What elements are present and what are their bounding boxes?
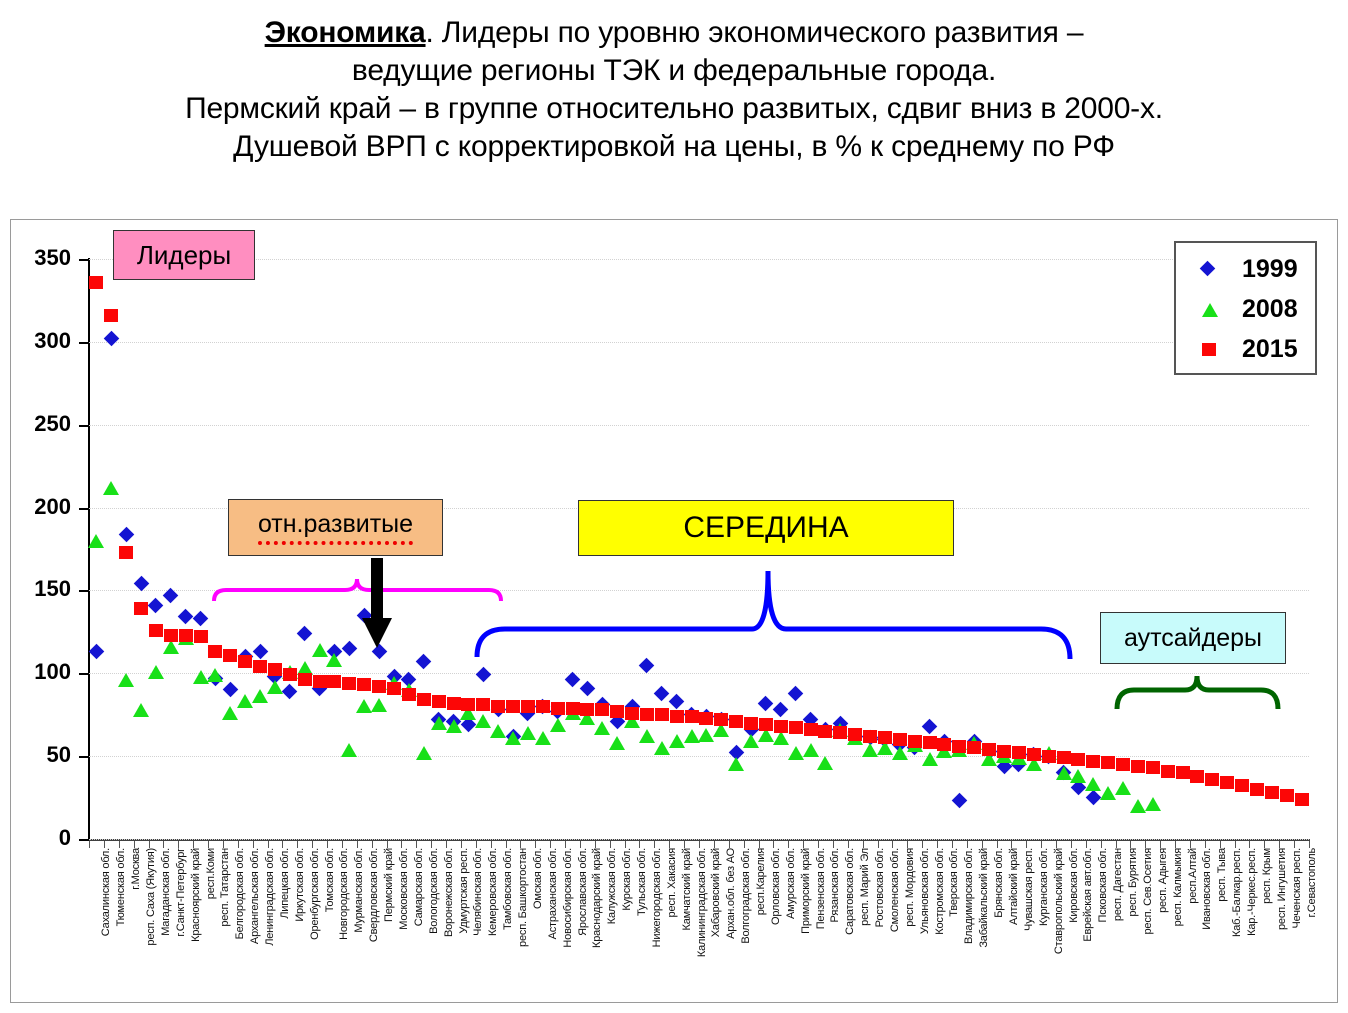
y-axis-tick-label: 350 — [11, 245, 71, 271]
y-tick-mark — [79, 259, 89, 261]
x-axis-tick-label: Свердловская обл. — [368, 848, 380, 942]
x-axis-tick-label: Тверская обл. — [948, 848, 960, 917]
x-axis-tick-label: Чеченская респ. — [1291, 848, 1303, 928]
x-tick-mark — [327, 841, 328, 848]
data-point-1999 — [193, 611, 209, 627]
data-point-2008 — [341, 743, 357, 757]
x-axis-tick-label: Красноярский край — [190, 848, 202, 942]
x-axis-tick-label: Каб.-Балкар.респ. — [1231, 848, 1243, 937]
x-tick-mark — [1071, 841, 1072, 848]
data-point-1999 — [565, 672, 581, 688]
x-tick-mark — [744, 841, 745, 848]
x-axis-tick-label: Рязанская обл. — [829, 848, 841, 922]
data-point-1999 — [342, 641, 358, 657]
annotation-middle: СЕРЕДИНА — [578, 500, 954, 556]
legend-item-2008: 2008 — [1176, 291, 1315, 331]
data-point-2015 — [179, 629, 193, 642]
y-axis-tick-label: 100 — [11, 659, 71, 685]
x-axis-labels: Сахалинская обл.Тюменская обл.г.Москваре… — [89, 848, 1311, 998]
x-tick-mark — [625, 841, 626, 848]
data-point-2015 — [476, 698, 490, 711]
data-point-2015 — [268, 663, 282, 676]
x-tick-mark — [476, 841, 477, 848]
data-point-2008 — [922, 752, 938, 766]
data-point-2008 — [356, 699, 372, 713]
x-axis-tick-label: Смоленская обл. — [889, 848, 901, 932]
data-point-2015 — [1280, 789, 1294, 802]
data-point-1999 — [118, 526, 134, 542]
x-tick-mark — [1026, 841, 1027, 848]
annotation-relative-developed-label: отн.развитые — [258, 510, 413, 545]
data-point-2008 — [550, 718, 566, 732]
data-point-2008 — [520, 726, 536, 740]
x-axis-tick-label: респ. Хакасия — [666, 848, 678, 917]
x-axis-tick-label: Челябинская обл. — [472, 848, 484, 936]
data-point-2015 — [863, 730, 877, 743]
data-point-2015 — [699, 712, 713, 725]
data-point-2015 — [729, 715, 743, 728]
x-tick-mark — [714, 841, 715, 848]
data-point-2008 — [431, 716, 447, 730]
x-axis-tick-label: респ. Крым — [1261, 848, 1273, 904]
x-axis-tick-label: Ивановская обл. — [1201, 848, 1213, 930]
data-point-1999 — [654, 685, 670, 701]
data-point-2015 — [327, 675, 341, 688]
x-axis-tick-label: респ. Адыгея — [1157, 848, 1169, 913]
data-point-2015 — [208, 645, 222, 658]
x-tick-mark — [1041, 841, 1042, 848]
x-tick-mark — [520, 841, 521, 848]
x-tick-mark — [669, 841, 670, 848]
x-tick-mark — [253, 841, 254, 848]
data-point-2008 — [698, 728, 714, 742]
data-point-2015 — [789, 721, 803, 734]
x-tick-mark — [1279, 841, 1280, 848]
x-tick-mark — [163, 841, 164, 848]
x-tick-mark — [223, 841, 224, 848]
x-axis-tick-label: респ. Бурятия — [1127, 848, 1139, 917]
x-axis-tick-label: Белгородская обл. — [234, 848, 246, 939]
data-point-2015 — [744, 717, 758, 730]
data-point-2008 — [103, 481, 119, 495]
x-axis-tick-label: Московская обл. — [398, 848, 410, 930]
data-point-2015 — [119, 546, 133, 559]
x-tick-mark — [1086, 841, 1087, 848]
y-axis-tick-label: 250 — [11, 411, 71, 437]
x-axis-tick-label: респ. Саха (Якутия) — [145, 848, 157, 946]
data-point-2015 — [149, 624, 163, 637]
data-point-2015 — [1027, 748, 1041, 761]
data-point-1999 — [133, 576, 149, 592]
data-point-2015 — [1071, 753, 1085, 766]
data-point-2015 — [848, 728, 862, 741]
data-point-2015 — [551, 702, 565, 715]
x-tick-mark — [268, 841, 269, 848]
x-axis-tick-label: Хабаровский край — [710, 848, 722, 937]
x-tick-mark — [119, 841, 120, 848]
x-tick-mark — [565, 841, 566, 848]
annotation-leaders-label: Лидеры — [137, 240, 231, 271]
data-point-2008 — [193, 670, 209, 684]
data-point-2008 — [237, 694, 253, 708]
y-axis-tick-label: 150 — [11, 576, 71, 602]
data-point-2015 — [878, 731, 892, 744]
x-tick-mark — [610, 841, 611, 848]
data-point-2015 — [461, 698, 475, 711]
x-tick-mark — [937, 841, 938, 848]
data-point-2015 — [1086, 755, 1100, 768]
x-tick-mark — [342, 841, 343, 848]
x-tick-mark — [312, 841, 313, 848]
chart-legend: 1999 2008 2015 — [1174, 241, 1317, 375]
data-point-2015 — [997, 745, 1011, 758]
data-point-2008 — [1056, 766, 1072, 780]
data-point-2015 — [595, 703, 609, 716]
data-point-2015 — [521, 700, 535, 713]
y-axis-tick-label: 0 — [11, 825, 71, 851]
x-tick-mark — [803, 841, 804, 848]
x-tick-mark — [461, 841, 462, 848]
data-point-2008 — [371, 698, 387, 712]
data-point-2015 — [759, 718, 773, 731]
data-point-2015 — [298, 673, 312, 686]
data-point-2015 — [1205, 773, 1219, 786]
x-axis-tick-label: респ.Коми — [205, 848, 217, 899]
data-point-2015 — [818, 725, 832, 738]
annotation-middle-label: СЕРЕДИНА — [683, 511, 848, 545]
x-tick-mark — [1175, 841, 1176, 848]
data-point-2008 — [654, 741, 670, 755]
x-axis-tick-label: Магаданская обл. — [160, 848, 172, 936]
data-point-2008 — [326, 653, 342, 667]
data-point-1999 — [669, 694, 685, 710]
data-point-2015 — [952, 740, 966, 753]
x-axis-tick-label: Томская обл. — [324, 848, 336, 912]
x-axis-tick-label: Еврейская авт.обл. — [1082, 848, 1094, 942]
x-axis-tick-label: Курская обл. — [621, 848, 633, 911]
data-point-2008 — [490, 724, 506, 738]
data-point-2008 — [207, 668, 223, 682]
data-point-2015 — [223, 649, 237, 662]
x-tick-mark — [684, 841, 685, 848]
data-point-2008 — [1100, 786, 1116, 800]
data-point-1999 — [178, 609, 194, 625]
annotation-leaders: Лидеры — [113, 230, 255, 280]
data-point-2008 — [88, 534, 104, 548]
data-point-2015 — [402, 688, 416, 701]
x-axis-tick-label: Ростовская обл. — [874, 848, 886, 927]
data-point-2008 — [773, 731, 789, 745]
x-axis-tick-label: респ. Мордовия — [904, 848, 916, 927]
x-axis-tick-label: Псковская обл. — [1097, 848, 1109, 922]
x-tick-mark — [729, 841, 730, 848]
x-tick-mark — [401, 841, 402, 848]
title-line-3: Пермский край – в группе относительно ра… — [0, 90, 1348, 128]
data-point-1999 — [297, 626, 313, 642]
triangle-marker-icon — [1202, 303, 1218, 317]
x-tick-mark — [1130, 841, 1131, 848]
data-point-2015 — [1042, 750, 1056, 763]
data-point-2008 — [163, 640, 179, 654]
x-tick-mark — [387, 841, 388, 848]
legend-item-1999: 1999 — [1176, 251, 1315, 291]
data-point-2015 — [253, 660, 267, 673]
x-tick-mark — [1056, 841, 1057, 848]
data-point-1999 — [922, 719, 938, 735]
x-axis-tick-label: респ. Татарстан — [219, 848, 231, 927]
data-point-2015 — [967, 741, 981, 754]
x-axis-tick-label: Астраханская обл. — [547, 848, 559, 939]
annotation-relative-developed: отн.развитые — [228, 499, 443, 556]
x-tick-mark — [149, 841, 150, 848]
x-tick-mark — [922, 841, 923, 848]
data-point-1999 — [416, 654, 432, 670]
data-point-2008 — [1070, 769, 1086, 783]
x-axis-tick-label: респ. Башкортостан — [517, 848, 529, 947]
data-point-2015 — [640, 708, 654, 721]
x-axis-tick-label: Забайкальский край — [978, 848, 990, 948]
x-axis-tick-label: Кировская обл. — [1068, 848, 1080, 923]
title-keyword: Экономика — [265, 16, 426, 49]
x-axis-tick-label: Самарская обл. — [413, 848, 425, 926]
x-axis-tick-label: Саратовская обл. — [844, 848, 856, 935]
data-point-2015 — [580, 703, 594, 716]
x-tick-mark — [580, 841, 581, 848]
x-axis-tick-label: Орловская обл. — [770, 848, 782, 925]
x-tick-mark — [848, 841, 849, 848]
x-axis-tick-label: Брянская обл. — [993, 848, 1005, 918]
x-tick-mark — [1309, 841, 1310, 848]
data-point-2008 — [609, 736, 625, 750]
x-tick-mark — [967, 841, 968, 848]
x-tick-mark — [1145, 841, 1146, 848]
gridline — [89, 425, 1309, 426]
data-point-2015 — [774, 720, 788, 733]
x-axis-tick-label: Кемеровская обл. — [487, 848, 499, 936]
data-point-1999 — [952, 793, 968, 809]
data-point-1999 — [371, 644, 387, 660]
data-point-2015 — [908, 735, 922, 748]
gridline — [89, 342, 1309, 343]
data-point-2008 — [892, 746, 908, 760]
data-point-2015 — [1250, 783, 1264, 796]
x-axis-tick-label: Пермский край — [383, 848, 395, 922]
diamond-marker-icon — [1200, 261, 1216, 277]
x-axis-tick-label: респ. Ингушетия — [1276, 848, 1288, 930]
x-tick-mark — [535, 841, 536, 848]
data-point-2015 — [655, 708, 669, 721]
data-point-2015 — [1012, 746, 1026, 759]
gridline — [89, 590, 1309, 591]
data-point-2015 — [447, 697, 461, 710]
x-tick-mark — [1011, 841, 1012, 848]
x-tick-mark — [491, 841, 492, 848]
data-point-2008 — [684, 729, 700, 743]
x-axis-tick-label: Воронежская обл. — [443, 848, 455, 937]
x-axis-tick-label: респ.Карелия — [755, 848, 767, 915]
annotation-outsiders: аутсайдеры — [1100, 612, 1286, 664]
data-point-2008 — [505, 731, 521, 745]
x-axis-tick-label: г.Севастополь — [1306, 848, 1318, 918]
data-point-2008 — [475, 714, 491, 728]
data-point-2015 — [923, 736, 937, 749]
x-tick-mark — [759, 841, 760, 848]
x-tick-mark — [788, 841, 789, 848]
data-point-1999 — [89, 644, 105, 660]
gridline — [89, 839, 1309, 840]
data-point-1999 — [282, 684, 298, 700]
x-tick-mark — [446, 841, 447, 848]
x-tick-mark — [1101, 841, 1102, 848]
data-point-2008 — [817, 756, 833, 770]
x-axis-tick-label: Калининградская обл. — [696, 848, 708, 957]
x-axis-tick-label: Амурская обл. — [785, 848, 797, 919]
x-axis-tick-label: Оренбургская обл. — [309, 848, 321, 940]
x-tick-mark — [1205, 841, 1206, 848]
data-point-2015 — [610, 705, 624, 718]
x-tick-mark — [878, 841, 879, 848]
data-point-2008 — [535, 731, 551, 745]
x-axis-tick-label: Калужская обл. — [606, 848, 618, 924]
x-tick-mark — [1235, 841, 1236, 848]
y-axis-tick-label: 200 — [11, 494, 71, 520]
data-point-2015 — [104, 309, 118, 322]
data-point-2008 — [788, 746, 804, 760]
x-tick-mark — [104, 841, 105, 848]
x-axis-tick-label: респ. Дагестан — [1112, 848, 1124, 921]
data-point-2008 — [639, 729, 655, 743]
gridline — [89, 259, 1309, 260]
x-axis-tick-label: Новосибирская обл. — [562, 848, 574, 948]
data-point-2008 — [446, 719, 462, 733]
annotation-outsiders-label: аутсайдеры — [1124, 624, 1262, 653]
data-point-2008 — [743, 734, 759, 748]
x-tick-mark — [178, 841, 179, 848]
x-axis-tick-label: Краснодарский край — [591, 848, 603, 948]
data-point-2015 — [833, 726, 847, 739]
x-tick-mark — [431, 841, 432, 848]
data-point-2008 — [133, 703, 149, 717]
data-point-1999 — [104, 331, 120, 347]
data-point-2015 — [670, 710, 684, 723]
legend-label-1999: 1999 — [1242, 255, 1298, 284]
x-tick-mark — [907, 841, 908, 848]
x-tick-mark — [952, 841, 953, 848]
x-tick-mark — [863, 841, 864, 848]
data-point-2015 — [357, 678, 371, 691]
x-tick-mark — [134, 841, 135, 848]
x-tick-mark — [208, 841, 209, 848]
data-point-2015 — [1176, 766, 1190, 779]
x-axis-tick-label: Мурманская обл. — [353, 848, 365, 933]
data-point-2008 — [312, 643, 328, 657]
data-point-2015 — [342, 677, 356, 690]
x-tick-mark — [193, 841, 194, 848]
x-axis-tick-label: Вологодская обл. — [428, 848, 440, 934]
data-point-1999 — [356, 608, 372, 624]
data-point-2015 — [283, 668, 297, 681]
x-axis-tick-label: респ. Сев.Осетия — [1142, 848, 1154, 935]
data-point-2015 — [804, 723, 818, 736]
title-line-4: Душевой ВРП с корректировкой на цены, в … — [0, 128, 1348, 166]
x-axis-tick-label: Ярославская обл. — [577, 848, 589, 936]
data-point-1999 — [148, 598, 164, 614]
data-point-2015 — [194, 630, 208, 643]
y-tick-mark — [79, 425, 89, 427]
data-point-2015 — [1146, 761, 1160, 774]
x-tick-mark — [997, 841, 998, 848]
legend-label-2015: 2015 — [1242, 335, 1298, 364]
x-axis-tick-label: Архан.обл. без АО — [725, 848, 737, 939]
legend-label-2008: 2008 — [1242, 295, 1298, 324]
x-tick-mark — [818, 841, 819, 848]
data-point-2015 — [1190, 770, 1204, 783]
data-point-2008 — [1085, 777, 1101, 791]
data-point-1999 — [788, 685, 804, 701]
data-point-2008 — [252, 689, 268, 703]
x-tick-mark — [506, 841, 507, 848]
x-axis-tick-label: респ. Тыва — [1216, 848, 1228, 902]
data-point-2015 — [313, 675, 327, 688]
data-point-2015 — [937, 738, 951, 751]
x-axis-tick-label: Владимирская обл. — [963, 848, 975, 944]
data-point-1999 — [580, 680, 596, 696]
x-tick-mark — [982, 841, 983, 848]
y-tick-mark — [79, 590, 89, 592]
data-point-2015 — [625, 707, 639, 720]
data-point-2015 — [1220, 776, 1234, 789]
x-axis-tick-label: Нижегородская обл. — [651, 848, 663, 947]
data-point-2008 — [669, 734, 685, 748]
chart-container: 050100150200250300350 Сахалинская обл.Тю… — [10, 219, 1338, 1003]
x-axis-tick-label: Тульская обл. — [636, 848, 648, 916]
x-axis-tick-label: Костромская обл. — [934, 848, 946, 935]
data-point-2015 — [566, 702, 580, 715]
data-point-2015 — [1057, 751, 1071, 764]
x-tick-mark — [833, 841, 834, 848]
data-point-2008 — [416, 746, 432, 760]
y-tick-mark — [79, 508, 89, 510]
x-axis-tick-label: Пензенская обл. — [815, 848, 827, 929]
x-tick-mark — [89, 841, 90, 848]
y-tick-mark — [79, 342, 89, 344]
data-point-2015 — [372, 680, 386, 693]
x-tick-mark — [773, 841, 774, 848]
x-tick-mark — [654, 841, 655, 848]
data-point-2015 — [387, 682, 401, 695]
x-tick-mark — [1160, 841, 1161, 848]
data-point-2015 — [432, 695, 446, 708]
data-point-2015 — [89, 276, 103, 289]
x-tick-mark — [892, 841, 893, 848]
data-point-2015 — [164, 629, 178, 642]
x-tick-mark — [1116, 841, 1117, 848]
data-point-2015 — [1101, 756, 1115, 769]
x-axis-tick-label: Ульяновская обл. — [919, 848, 931, 934]
y-tick-mark — [79, 839, 89, 841]
x-tick-mark — [282, 841, 283, 848]
x-axis-tick-label: Липецкая обл. — [279, 848, 291, 919]
title-line-1: Экономика. Лидеры по уровню экономическо… — [0, 14, 1348, 52]
x-tick-mark — [357, 841, 358, 848]
x-axis-tick-label: Тюменская обл. — [115, 848, 127, 926]
data-point-2015 — [1131, 760, 1145, 773]
square-marker-icon — [1202, 343, 1216, 356]
data-point-2008 — [1130, 799, 1146, 813]
data-point-1999 — [252, 644, 268, 660]
data-point-2015 — [238, 655, 252, 668]
x-axis-tick-label: Приморский край — [800, 848, 812, 934]
